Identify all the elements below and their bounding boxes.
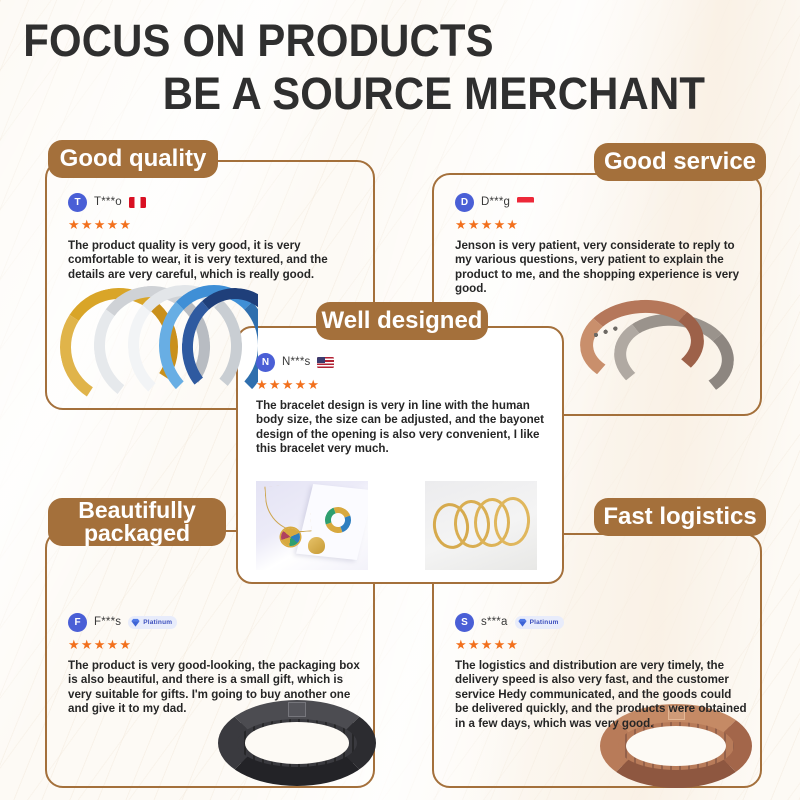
tab-text-line-1: Beautifully [78,499,196,522]
product-photo-necklace-earrings [256,481,368,570]
flag-icon-singapore [517,197,534,208]
reviewer-name: s***a [481,616,508,628]
review-body-well-designed: N N***s ★★★★★ The bracelet design is ver… [256,352,546,457]
platinum-badge: Platinum [128,616,177,629]
diamond-icon [130,617,141,628]
avatar: D [455,193,474,212]
rating-stars: ★★★★★ [455,218,745,232]
reviewer-name: D***g [481,196,510,208]
reviewer-row: T T***o [68,192,356,212]
tab-label-good-quality: Good quality [48,140,218,178]
product-photo-gold-bangles [425,481,537,570]
tab-label-good-service: Good service [594,143,766,181]
necklace-pendant [281,528,300,546]
platinum-badge-label: Platinum [530,619,559,626]
tab-label-well-designed: Well designed [316,302,488,340]
avatar: T [68,193,87,212]
stud-earring [308,537,325,554]
tab-label-beautifully-packaged: Beautifully packaged [48,498,226,546]
reviewer-name: T***o [94,196,122,208]
rating-stars: ★★★★★ [68,638,360,652]
reviewer-row: D D***g [455,192,745,212]
avatar: N [256,353,275,372]
platinum-badge: Platinum [515,616,564,629]
tab-text: Well designed [322,309,483,333]
headline-line-1: FOCUS ON PRODUCTS [0,14,729,67]
bracelet-inner-opening [626,726,726,766]
review-body-good-service: D D***g ★★★★★ Jenson is very patient, ve… [455,192,745,297]
product-photo-bracelet-stack [58,282,258,408]
page-title: FOCUS ON PRODUCTS BE A SOURCE MERCHANT [0,0,800,120]
flag-icon-united-states [317,357,334,368]
avatar: S [455,613,474,632]
rating-stars: ★★★★★ [455,638,747,652]
review-text: The product quality is very good, it is … [68,239,356,282]
tab-label-fast-logistics: Fast logistics [594,498,766,536]
rating-stars: ★★★★★ [68,218,356,232]
diamond-icon [517,617,528,628]
headline-line-2: BE A SOURCE MERCHANT [0,67,729,120]
review-body-fast-logistics: S s***a Platinum ★★★★★ The logistics and… [455,612,747,731]
rating-stars: ★★★★★ [256,378,546,392]
review-text: The product is very good-looking, the pa… [68,659,360,717]
avatar: F [68,613,87,632]
reviewer-row: S s***a Platinum [455,612,747,632]
reviewer-row: N N***s [256,352,546,372]
review-body-good-quality: T T***o ★★★★★ The product quality is ver… [68,192,356,282]
product-photo-copper-cuffs [562,292,762,418]
tab-text: Good service [604,150,756,174]
reviewer-name: N***s [282,356,310,368]
reviewer-name: F***s [94,616,121,628]
review-text: The logistics and distribution are very … [455,659,747,731]
bracelet-inner-opening [245,722,349,763]
necklace-chain [264,484,311,535]
review-text: Jenson is very patient, very considerate… [455,239,745,297]
reviewer-row: F F***s Platinum [68,612,360,632]
tab-text: Fast logistics [603,505,756,529]
tab-text: Good quality [60,147,207,171]
review-body-beautifully-packaged: F F***s Platinum ★★★★★ The product is ve… [68,612,360,717]
flag-canton [317,357,324,363]
platinum-badge-label: Platinum [143,619,172,626]
review-text: The bracelet design is very in line with… [256,399,546,457]
flag-icon-peru [129,197,146,208]
tab-text-line-2: packaged [84,522,190,545]
